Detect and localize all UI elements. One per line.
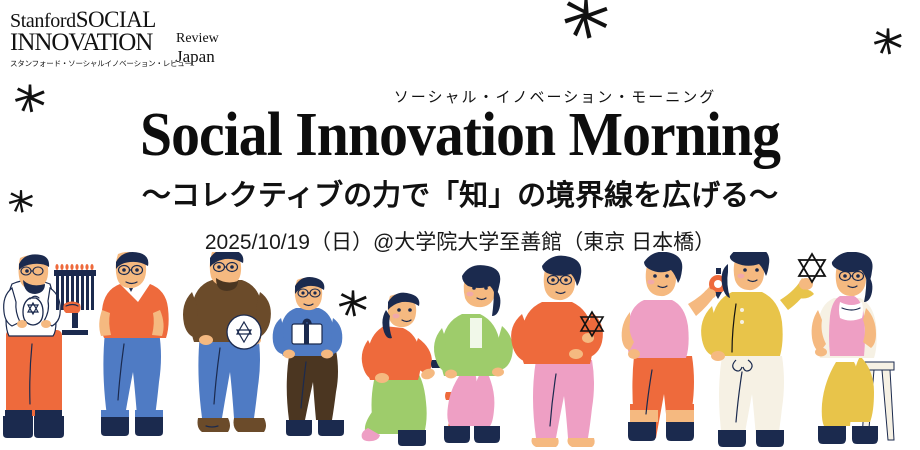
- asterisk-top-right-icon: [873, 26, 903, 59]
- logo-word-review: Review: [176, 32, 219, 46]
- asterisk-mid-center-icon: [338, 288, 368, 321]
- figure-3: [99, 252, 168, 436]
- figure-5: [273, 277, 344, 436]
- figure-8: [511, 256, 603, 447]
- logo-kana-subtitle: スタンフォード・ソーシャルイノベーション・レビュー: [10, 60, 192, 68]
- event-subtitle: 〜コレクティブの力で「知」の境界線を広げる〜: [0, 172, 920, 214]
- logo-word-innovation: INNOVATION: [10, 30, 152, 55]
- figure-1: [3, 254, 64, 438]
- star-of-david-3: [799, 254, 825, 282]
- logo-line-stanford-social: StanfordSOCIAL: [10, 8, 156, 31]
- figure-4: [183, 252, 271, 432]
- ssir-japan-logo[interactable]: StanfordSOCIAL INNOVATION Review Japan ス…: [8, 8, 228, 76]
- asterisk-top-center-icon: [563, 0, 609, 47]
- figure-2-menorah: [54, 264, 96, 335]
- people-illustration: .or{fill:#EE6A3C}.bl{fill:#4F7BC4}.gr{fi…: [0, 252, 920, 450]
- page-title: Social Innovation Morning: [32, 104, 888, 166]
- figure-7: [434, 265, 513, 443]
- event-banner: StanfordSOCIAL INNOVATION Review Japan ス…: [0, 0, 920, 450]
- figure-11: [812, 252, 894, 444]
